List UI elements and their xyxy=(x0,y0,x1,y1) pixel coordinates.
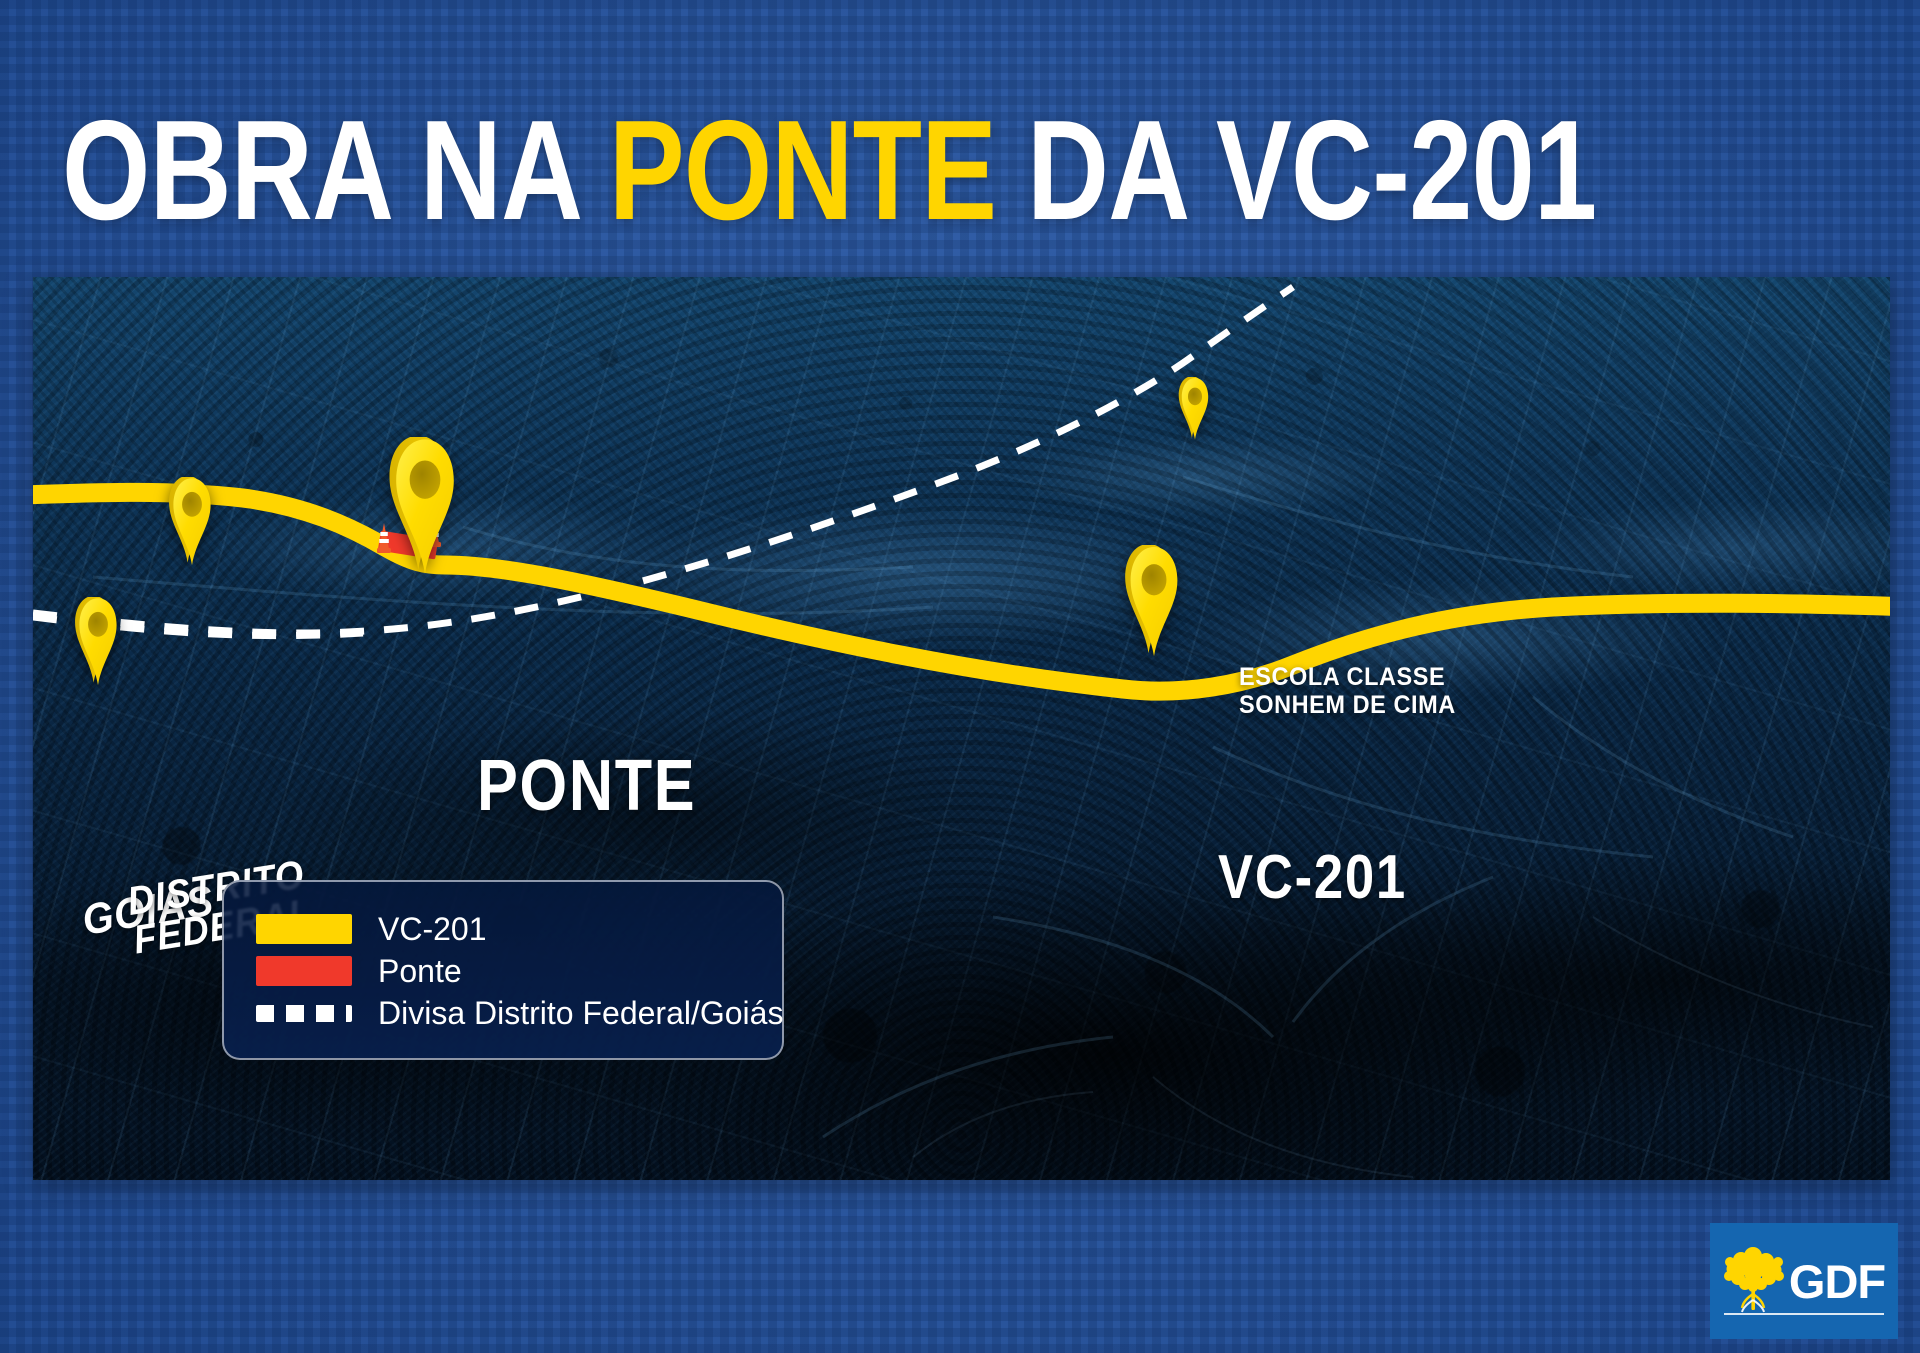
map-label-escola-classe: ESCOLA CLASSE SONHEM DE CIMA xyxy=(1239,663,1456,719)
legend-swatch-border xyxy=(256,1005,352,1022)
legend-label-divisa: Divisa Distrito Federal/Goiás xyxy=(378,995,783,1032)
gdf-logo-text: GDF xyxy=(1789,1258,1885,1305)
legend-swatch-road xyxy=(256,914,352,944)
legend-item-divisa: Divisa Distrito Federal/Goiás xyxy=(256,992,752,1034)
legend-swatch-bridge xyxy=(256,956,352,986)
map-label-ponte: PONTE xyxy=(477,745,696,827)
legend-item-vc-201: VC-201 xyxy=(256,908,752,950)
marker-vc-201[interactable] xyxy=(1125,544,1177,656)
ipe-tree-icon xyxy=(1723,1240,1785,1322)
road-vc-201[interactable] xyxy=(33,492,1890,691)
label-escola-line2: SONHEM DE CIMA xyxy=(1239,691,1456,719)
page-title: OBRA NA PONTE DA VC-201 xyxy=(62,100,1596,242)
title-part-3: DA VC-201 xyxy=(996,91,1596,250)
marker-goias[interactable] xyxy=(169,476,211,565)
legend-label-vc-201: VC-201 xyxy=(378,911,487,948)
legend-item-ponte: Ponte xyxy=(256,950,752,992)
marker-escola-classe[interactable] xyxy=(1179,376,1208,439)
state-border-dashed-line xyxy=(33,287,1293,633)
map-label-vc-201: VC-201 xyxy=(1218,842,1407,913)
label-escola-line1: ESCOLA CLASSE xyxy=(1239,663,1456,691)
gdf-logo: GDF xyxy=(1710,1223,1898,1339)
marker-distrito-federal[interactable] xyxy=(75,596,117,685)
map-legend: VC-201 Ponte Divisa Distrito Federal/Goi… xyxy=(222,880,784,1060)
gdf-logo-underline xyxy=(1724,1313,1884,1315)
title-part-1: OBRA NA xyxy=(62,91,609,250)
title-part-highlight: PONTE xyxy=(609,91,996,250)
legend-label-ponte: Ponte xyxy=(378,953,462,990)
